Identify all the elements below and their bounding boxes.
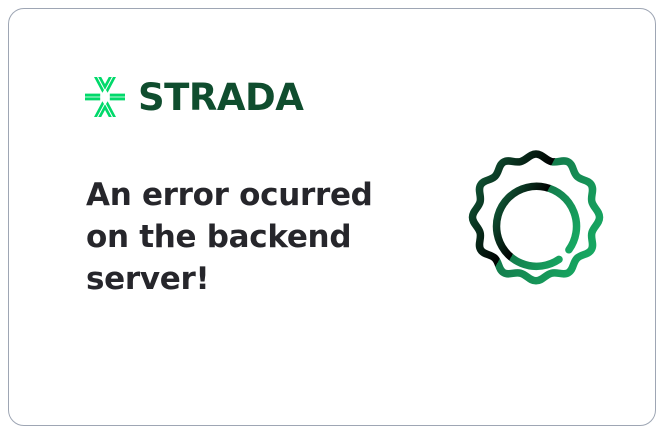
brand-wordmark: STRADA: [138, 79, 303, 116]
error-message-text: An error ocurred on the backend server!: [86, 174, 386, 300]
error-message-line-1: An error ocurred: [86, 174, 386, 216]
gear-inner-arc: [497, 186, 577, 266]
gear-outer-ring: [473, 154, 600, 281]
error-message-line-2: on the backend: [86, 216, 386, 258]
error-card: STRADA An error ocurred on the backend s…: [8, 8, 656, 426]
error-message-line-3: server!: [86, 258, 386, 300]
strada-asterisk-icon: [85, 77, 125, 117]
brand-logo: STRADA: [85, 77, 303, 117]
gear-cog-icon: [456, 146, 616, 306]
